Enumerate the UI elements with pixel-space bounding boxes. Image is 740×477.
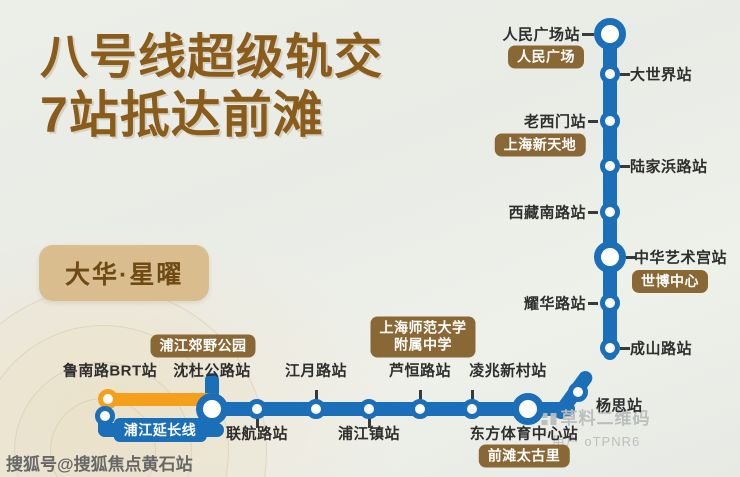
metro-line-infographic: 八号线超级轨交 7站抵达前滩 大华·星曜 人民广场站 人民广场 大世界站 老西门… (0, 0, 740, 477)
station-label-yaohua-lu: 耀华路站 (524, 293, 586, 314)
station-label-lianhang-lu: 联航路站 (226, 423, 288, 444)
station-dot-yaohua-lu[interactable] (600, 293, 620, 313)
poi-badge-pujiang-jiaoye-gongyuan: 浦江郊野公园 (151, 335, 256, 358)
poi-line-1: 上海师范大学 (380, 320, 467, 337)
station-tick (588, 211, 598, 214)
poi-badge-shibo-zhongxin: 世博中心 (632, 270, 708, 293)
station-label-dongfang-tiyu-zhongxin: 东方体育中心站 (470, 423, 579, 444)
station-label-lujiabang-lu: 陆家浜路站 (630, 156, 708, 177)
poi-line-2: 附属中学 (380, 337, 467, 354)
station-dot-branch-terminus[interactable] (95, 406, 115, 426)
station-dot-dongfang-tiyu-zhongxin[interactable] (512, 393, 544, 425)
station-label-renmin-guangchang: 人民广场站 (502, 24, 580, 45)
station-dot-lujiabang-lu[interactable] (600, 156, 620, 176)
station-dot-lingzhao-xincun[interactable] (462, 399, 482, 419)
station-tick (588, 120, 598, 123)
station-label-yangsi: 杨思站 (596, 395, 643, 416)
poi-badge-renmin-guangchang: 人民广场 (508, 46, 584, 69)
station-dot-dashijie[interactable] (600, 64, 620, 84)
poi-badge-xintiandi: 上海新天地 (495, 134, 586, 157)
branch-line-tag-pujiang-extension: 浦江延长线 (114, 418, 207, 442)
station-tick (620, 73, 630, 76)
station-dot-pujiang-zhen[interactable] (359, 399, 379, 419)
station-tick (620, 165, 630, 168)
station-label-dashijie: 大世界站 (630, 64, 692, 85)
station-dot-zhonghua-yishugong[interactable] (594, 241, 626, 273)
station-label-laoximen: 老西门站 (524, 111, 586, 132)
station-dot-jiangyue-lu[interactable] (306, 399, 326, 419)
station-dot-renmin-guangchang[interactable] (594, 18, 626, 50)
station-dot-chengshan-lu[interactable] (600, 338, 620, 358)
station-label-lingzhao-xincun: 凌兆新村站 (469, 360, 547, 381)
station-dot-lianhang-lu[interactable] (247, 399, 267, 419)
station-dot-luheng-lu[interactable] (410, 399, 430, 419)
poi-badge-qiantan-taikooli: 前滩太古里 (479, 445, 570, 468)
station-label-chengshan-lu: 成山路站 (630, 338, 692, 359)
station-tick (620, 347, 630, 350)
station-label-zhonghua-yishugong: 中华艺术宫站 (634, 247, 727, 268)
station-label-lunan-lu-brt: 鲁南路BRT站 (63, 360, 157, 381)
station-tick (582, 33, 594, 36)
station-label-luheng-lu: 芦恒路站 (389, 360, 451, 381)
station-tick (588, 302, 598, 305)
poi-badge-shishi-fuzhong: 上海师范大学 附属中学 (371, 317, 476, 358)
station-label-pujiang-zhen: 浦江镇站 (338, 423, 400, 444)
station-dot-yangsi[interactable] (568, 382, 588, 402)
station-label-xizang-nanlu: 西藏南路站 (508, 202, 586, 223)
station-label-jiangyue-lu: 江月路站 (285, 360, 347, 381)
watermark-bottom-left: 搜狐号@搜狐焦点黄石站 (6, 450, 193, 475)
station-dot-laoximen[interactable] (600, 111, 620, 131)
station-dot-xizang-nanlu[interactable] (600, 202, 620, 222)
station-label-shendu-gonglu: 沈杜公路站 (173, 360, 251, 381)
